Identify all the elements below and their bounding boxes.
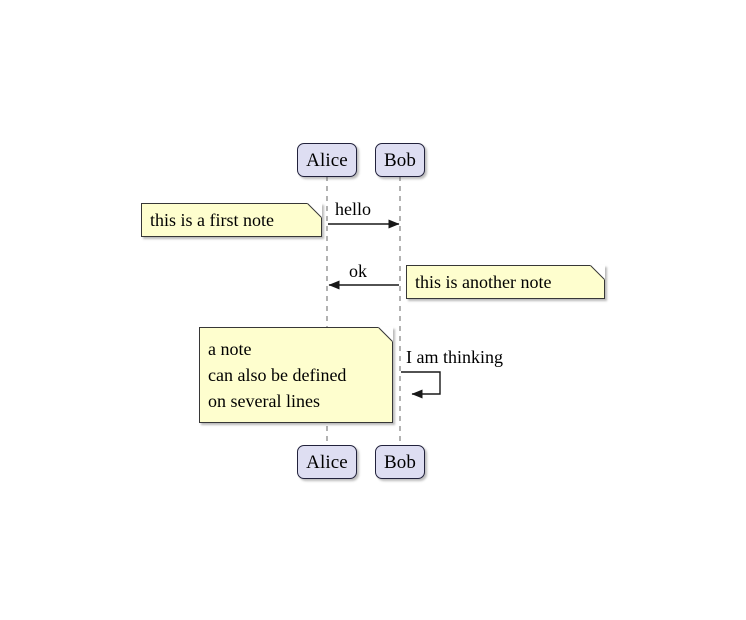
- diagram-vector-layer: [0, 0, 746, 620]
- message-arrow-self-bob: [401, 372, 440, 394]
- participant-foot-bob-label: Bob: [384, 453, 416, 472]
- message-label-hello: hello: [335, 200, 371, 218]
- message-label-hello-text: hello: [335, 199, 371, 219]
- participant-head-bob-label: Bob: [384, 151, 416, 170]
- message-label-ok-text: ok: [349, 261, 367, 281]
- note-line: a note: [208, 336, 384, 362]
- sequence-diagram-canvas: Alice Bob Alice Bob this is a first note…: [0, 0, 746, 620]
- message-label-i-am-thinking-text: I am thinking: [406, 347, 503, 367]
- participant-foot-bob[interactable]: Bob: [375, 445, 425, 479]
- note-line: this is a first note: [150, 207, 313, 233]
- note-first-note[interactable]: this is a first note: [141, 203, 322, 237]
- participant-foot-alice-label: Alice: [306, 453, 348, 472]
- note-multiline-note[interactable]: a note can also be defined on several li…: [199, 327, 393, 423]
- participant-head-bob[interactable]: Bob: [375, 143, 425, 177]
- note-line: on several lines: [208, 388, 384, 414]
- note-another-note-text: this is another note: [415, 266, 596, 298]
- note-first-note-text: this is a first note: [150, 204, 313, 236]
- participant-head-alice[interactable]: Alice: [297, 143, 357, 177]
- message-label-i-am-thinking: I am thinking: [406, 348, 503, 366]
- note-line: can also be defined: [208, 362, 384, 388]
- participant-foot-alice[interactable]: Alice: [297, 445, 357, 479]
- message-label-ok: ok: [349, 262, 367, 280]
- participant-head-alice-label: Alice: [306, 151, 348, 170]
- note-another-note[interactable]: this is another note: [406, 265, 605, 299]
- note-line: this is another note: [415, 269, 596, 295]
- note-multiline-note-text: a note can also be defined on several li…: [208, 328, 384, 422]
